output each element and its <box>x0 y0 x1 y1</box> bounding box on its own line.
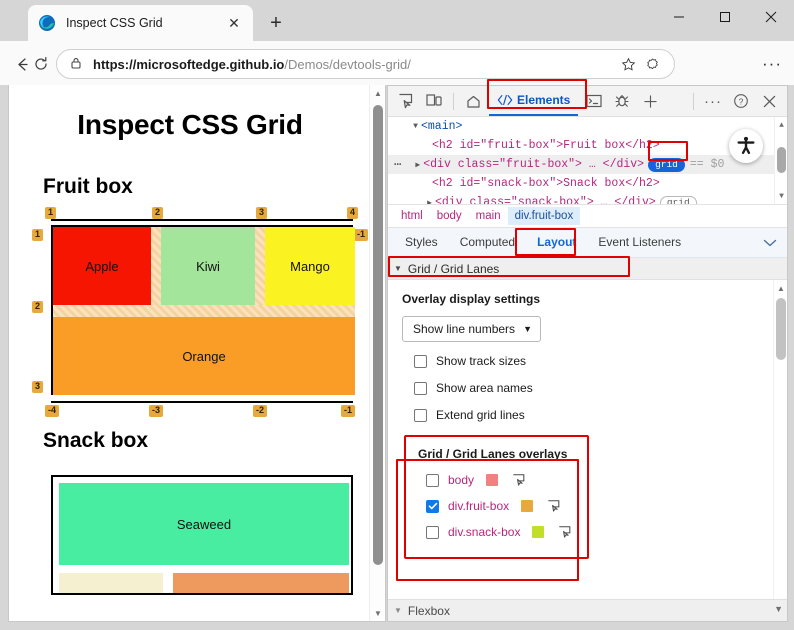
grid-line-label-top-2: 2 <box>152 207 163 219</box>
dom-row-text: <main> <box>421 120 462 133</box>
snack-cell-right <box>173 573 349 595</box>
layout-panel-scrollbar[interactable]: ▲ <box>773 280 787 599</box>
page-scrollbar-thumb[interactable] <box>373 105 383 565</box>
collapse-triangle-icon[interactable]: ▶ <box>412 160 423 170</box>
grid-line-label-right-1: -1 <box>354 229 368 241</box>
svg-text:?: ? <box>739 96 744 106</box>
tab-styles[interactable]: Styles <box>394 228 449 257</box>
reload-button[interactable] <box>27 50 55 78</box>
overlay-fruit-box-color-swatch[interactable] <box>521 500 533 512</box>
breadcrumb-item-div-fruit-box[interactable]: div.fruit-box <box>508 207 581 225</box>
home-icon[interactable] <box>459 88 487 114</box>
fruit-box: Apple Kiwi Mango Orange <box>51 225 353 395</box>
overlay-snack-box-checkbox[interactable] <box>426 526 439 539</box>
collapse-triangle-icon-2[interactable]: ▶ <box>424 198 435 206</box>
accessibility-icon[interactable] <box>729 129 763 163</box>
devtools-panel: Elements ··· ? <box>387 85 788 622</box>
device-emulation-icon[interactable] <box>420 88 448 114</box>
grid-line-label-bottom-3: -2 <box>253 405 267 417</box>
section-flexbox-label: Flexbox <box>408 604 450 618</box>
grid-line-label-left-2: 2 <box>32 301 43 313</box>
tab-elements[interactable]: Elements <box>489 87 578 116</box>
browser-settings-button[interactable]: ··· <box>758 51 786 77</box>
close-tab-icon[interactable]: ✕ <box>223 12 245 34</box>
snack-cell-left <box>59 573 163 595</box>
url-text: https://microsoftedge.github.io/Demos/de… <box>93 57 616 72</box>
grid-cell-orange: Orange <box>53 317 355 395</box>
scroll-down-icon[interactable]: ▼ <box>370 605 386 621</box>
column-gap-1 <box>151 227 161 305</box>
collections-icon[interactable] <box>640 52 664 76</box>
fruit-box-heading: Fruit box <box>43 175 353 199</box>
breadcrumb-item-body[interactable]: body <box>430 207 469 225</box>
line-numbers-select-value: Show line numbers <box>413 322 515 336</box>
dom-row-h2-snack[interactable]: <h2 id="snack-box">Snack box</h2> <box>388 174 787 193</box>
inspect-element-icon[interactable] <box>392 88 420 114</box>
console-icon[interactable] <box>580 88 608 114</box>
flexbox-expand-icon[interactable]: ▼ <box>394 606 402 615</box>
overlay-row-body[interactable]: body <box>426 473 575 487</box>
panel-scroll-up-icon[interactable]: ▲ <box>774 280 787 296</box>
new-tab-button[interactable]: + <box>262 10 290 36</box>
layout-panel-scrollbar-thumb[interactable] <box>776 298 786 360</box>
navigation-bar: https://microsoftedge.github.io/Demos/de… <box>0 41 794 85</box>
edge-logo-icon <box>38 14 56 32</box>
snack-box: Seaweed <box>51 475 353 595</box>
page-title: Inspect CSS Grid <box>27 109 353 141</box>
checkbox-row-extend-grid-lines[interactable]: Extend grid lines <box>414 408 759 422</box>
section-grid-grid-lanes[interactable]: ▼ Grid / Grid Lanes <box>388 258 787 280</box>
extend-grid-lines-checkbox[interactable] <box>414 409 427 422</box>
toolbar-separator-2 <box>693 93 694 110</box>
overlay-display-settings-title: Overlay display settings <box>402 292 759 306</box>
column-gap-2 <box>255 227 265 305</box>
overlay-row-div-fruit-box[interactable]: div.fruit-box <box>426 499 575 513</box>
code-brackets-icon <box>497 94 513 106</box>
section-grid-grid-lanes-label: Grid / Grid Lanes <box>408 262 499 276</box>
dom-tree: ▼ <main> <h2 id="fruit-box">Fruit box</h… <box>388 117 787 205</box>
overlay-body-select-element-icon[interactable] <box>512 473 526 487</box>
dom-row-div-snack-box[interactable]: ▶ <div class="snack-box"> … </div> grid <box>388 193 787 205</box>
close-window-button[interactable] <box>748 0 794 34</box>
chevron-down-icon[interactable] <box>763 235 777 253</box>
snack-box-heading: Snack box <box>43 429 353 453</box>
grid-line-label-bottom-4: -1 <box>341 405 355 417</box>
overlay-fruit-box-checkbox[interactable] <box>426 500 439 513</box>
dom-row-h2-fruit[interactable]: <h2 id="fruit-box">Fruit box</h2> <box>388 136 787 155</box>
grid-badge-fruit-box[interactable]: grid <box>648 158 685 172</box>
grid-cell-apple: Apple <box>53 227 151 305</box>
grid-cell-seaweed: Seaweed <box>59 483 349 565</box>
grid-badge-snack-box[interactable]: grid <box>660 196 697 206</box>
dom-row-text: <div class="fruit-box"> … </div> <box>423 158 644 171</box>
grid-cell-mango: Mango <box>265 227 355 305</box>
tab-event-listeners[interactable]: Event Listeners <box>587 228 692 257</box>
overlay-body-color-swatch[interactable] <box>486 474 498 486</box>
overlay-row-div-snack-box[interactable]: div.snack-box <box>426 525 575 539</box>
url-domain: https://microsoftedge.github.io <box>93 57 284 72</box>
grid-line-label-bottom-2: -3 <box>149 405 163 417</box>
dom-row-main[interactable]: ▼ <main> <box>388 117 787 136</box>
dom-row-menu-icon[interactable]: ⋯ <box>394 157 402 172</box>
line-numbers-select[interactable]: Show line numbers ▼ <box>402 316 541 342</box>
breadcrumb-item-html[interactable]: html <box>394 207 430 225</box>
overlay-snack-box-select-element-icon[interactable] <box>558 525 572 539</box>
tab-title: Inspect CSS Grid <box>66 16 223 30</box>
layout-panel-body: Overlay display settings Show line numbe… <box>388 280 787 599</box>
debug-icon[interactable] <box>608 88 636 114</box>
tab-layout[interactable]: Layout <box>526 228 587 257</box>
grid-line-label-top-3: 3 <box>256 207 267 219</box>
overlay-snack-box-color-swatch[interactable] <box>532 526 544 538</box>
overlay-body-checkbox[interactable] <box>426 474 439 487</box>
devtools-subtabs: Styles Computed Layout Event Listeners <box>388 228 787 258</box>
grid-line-label-top-1: 1 <box>45 207 56 219</box>
grid-line-label-left-1: 1 <box>32 229 43 241</box>
section-flexbox[interactable]: ▼ Flexbox ▼ <box>388 599 787 621</box>
lock-icon <box>69 56 85 72</box>
url-path: /Demos/devtools-grid/ <box>284 57 410 72</box>
add-panel-button[interactable] <box>636 88 664 114</box>
browser-window: Inspect CSS Grid ✕ + <box>0 0 794 630</box>
dom-scroll-down-icon[interactable]: ▼ <box>775 188 787 204</box>
grid-top-edge <box>51 219 353 221</box>
row-gap-1 <box>53 305 355 317</box>
tab-strip: Inspect CSS Grid ✕ + <box>0 0 794 41</box>
grid-line-label-bottom-1: -4 <box>45 405 59 417</box>
section-expand-icon[interactable]: ▼ <box>394 264 402 273</box>
dom-row-text: <div class="snack-box"> … </div> <box>435 196 656 205</box>
checkbox-row-show-track-sizes[interactable]: Show track sizes <box>414 354 759 368</box>
maximize-button[interactable] <box>702 0 748 34</box>
overlay-body-label: body <box>448 473 474 487</box>
checkbox-row-show-area-names[interactable]: Show area names <box>414 381 759 395</box>
dom-row-div-fruit-box[interactable]: ⋯ ▶ <div class="fruit-box"> … </div> gri… <box>388 155 787 174</box>
close-devtools-icon[interactable] <box>755 88 783 114</box>
expand-triangle-icon[interactable]: ▼ <box>410 122 421 131</box>
breadcrumb: html body main div.fruit-box <box>388 205 787 228</box>
page-content: Inspect CSS Grid Fruit box 1 2 3 4 1 2 3… <box>9 85 371 622</box>
overlay-fruit-box-select-element-icon[interactable] <box>547 499 561 513</box>
show-track-sizes-checkbox[interactable] <box>414 355 427 368</box>
dom-row-text: <h2 id="snack-box">Snack box</h2> <box>432 177 660 190</box>
chevron-down-icon[interactable]: ▼ <box>523 324 532 334</box>
grid-line-label-top-4: 4 <box>347 207 358 219</box>
scroll-up-icon[interactable]: ▲ <box>370 85 386 101</box>
address-bar[interactable]: https://microsoftedge.github.io/Demos/de… <box>56 49 675 79</box>
show-area-names-checkbox[interactable] <box>414 382 427 395</box>
help-icon[interactable]: ? <box>727 88 755 114</box>
page-viewport: Inspect CSS Grid Fruit box 1 2 3 4 1 2 3… <box>8 85 386 622</box>
tab-elements-label: Elements <box>517 93 570 107</box>
browser-tab[interactable]: Inspect CSS Grid ✕ <box>28 5 253 41</box>
fruit-box-grid-overlay: 1 2 3 4 1 2 3 -1 Apple Kiwi Mango <box>51 225 353 395</box>
breadcrumb-item-main[interactable]: main <box>469 207 508 225</box>
grid-line-label-left-3: 3 <box>32 381 43 393</box>
grid-overlays-title: Grid / Grid Lanes overlays <box>418 447 575 461</box>
overlay-fruit-box-label: div.fruit-box <box>448 499 509 513</box>
overlay-snack-box-label: div.snack-box <box>448 525 520 539</box>
page-scrollbar[interactable]: ▲ ▼ <box>369 85 385 621</box>
grid-bottom-edge <box>51 401 353 403</box>
panel-scroll-down-icon[interactable]: ▼ <box>774 604 783 614</box>
devtools-toolbar: Elements ··· ? <box>388 86 787 117</box>
dom-scrollbar[interactable]: ▲ ▼ <box>774 117 787 204</box>
extend-grid-lines-label: Extend grid lines <box>436 408 525 422</box>
show-area-names-label: Show area names <box>436 381 533 395</box>
dom-scrollbar-thumb[interactable] <box>777 147 786 173</box>
devtools-overflow-button[interactable]: ··· <box>699 88 727 114</box>
show-track-sizes-label: Show track sizes <box>436 354 526 368</box>
window-controls <box>656 0 794 41</box>
layout-panel-inner: Overlay display settings Show line numbe… <box>388 280 773 599</box>
favorite-star-icon[interactable] <box>616 52 640 76</box>
dom-selected-marker: == $0 <box>690 158 725 171</box>
toolbar-separator <box>453 93 454 110</box>
tab-computed[interactable]: Computed <box>449 228 526 257</box>
minimize-button[interactable] <box>656 0 702 34</box>
dom-row-text: <h2 id="fruit-box">Fruit box</h2> <box>432 139 660 152</box>
grid-cell-kiwi: Kiwi <box>161 227 255 305</box>
grid-overlays-group: Grid / Grid Lanes overlays body d <box>404 435 589 559</box>
dom-scroll-up-icon[interactable]: ▲ <box>775 117 787 133</box>
